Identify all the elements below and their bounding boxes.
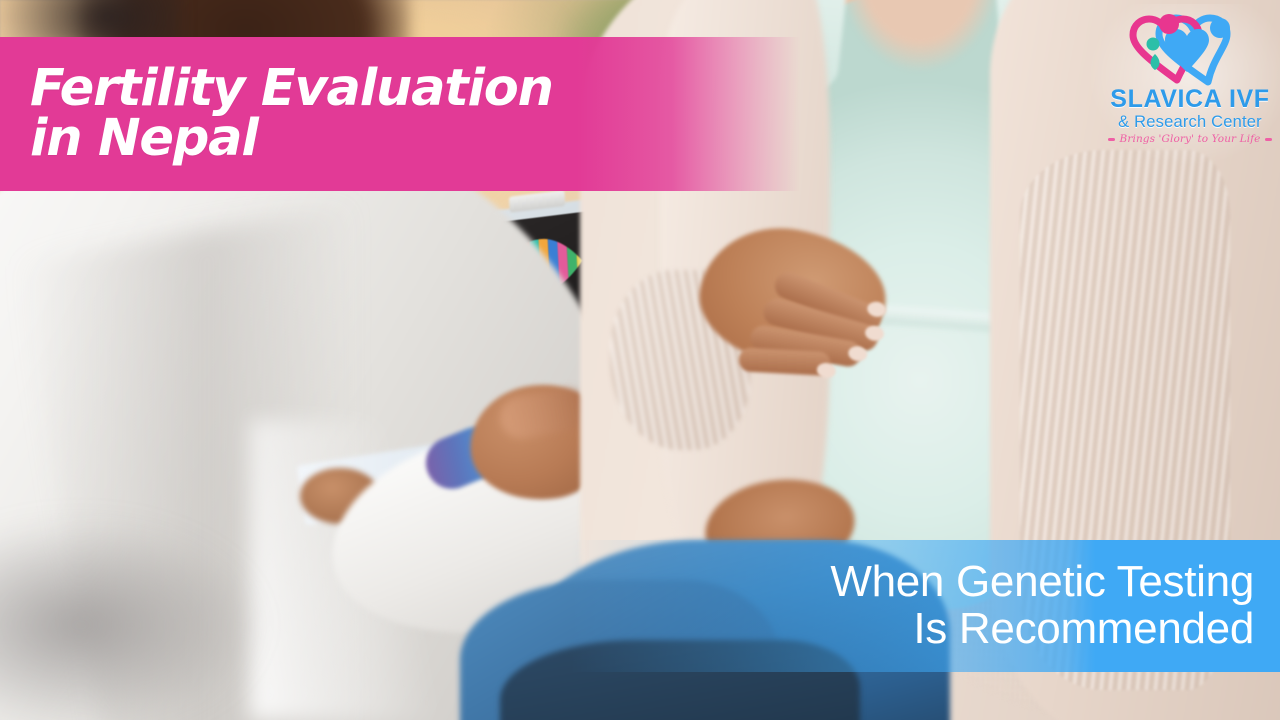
subtitle-banner: When Genetic Testing Is Recommended xyxy=(570,540,1280,672)
logo-name: SLAVICA IVF xyxy=(1108,87,1272,112)
brand-logo[interactable]: SLAVICA IVF & Research Center Brings 'Gl… xyxy=(1108,14,1272,149)
logo-subtitle: & Research Center xyxy=(1108,113,1272,131)
heart-family-icon xyxy=(1108,14,1272,86)
dash-left-icon xyxy=(1108,138,1115,141)
poster-canvas: Fertility Evaluation in Nepal When Genet… xyxy=(0,0,1280,720)
coat-shadow xyxy=(0,520,260,720)
subtitle-text: When Genetic Testing Is Recommended xyxy=(830,559,1280,652)
title-banner: Fertility Evaluation in Nepal xyxy=(0,37,800,191)
logo-tagline-row: Brings 'Glory' to Your Life xyxy=(1108,133,1272,145)
logo-tagline: Brings 'Glory' to Your Life xyxy=(1120,133,1261,145)
page-title: Fertility Evaluation in Nepal xyxy=(0,64,553,164)
dash-right-icon xyxy=(1265,138,1272,141)
